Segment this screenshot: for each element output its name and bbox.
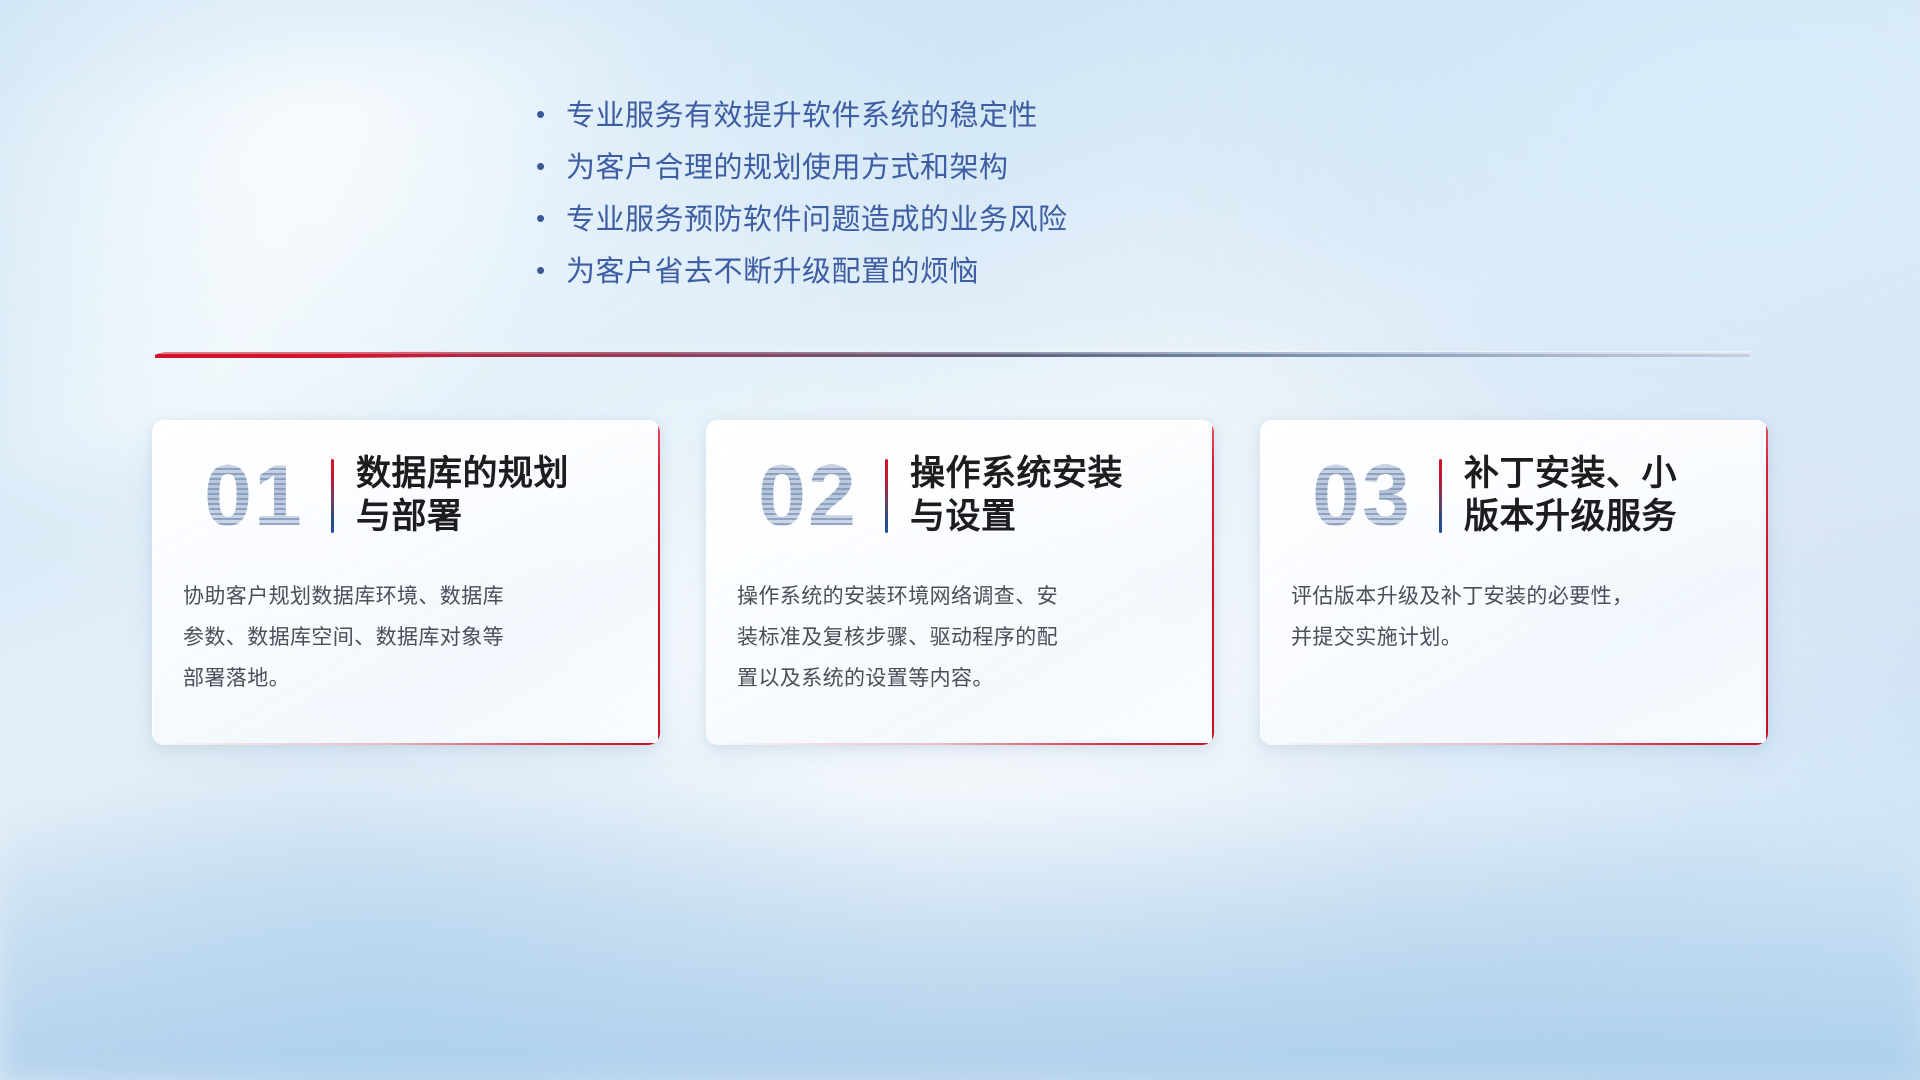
bullet-dot-icon: • (536, 153, 566, 179)
card-title: 补丁安装、小 版本升级服务 (1464, 453, 1742, 538)
card-description: 评估版本升级及补丁安装的必要性， 并提交实施计划。 (1261, 549, 1768, 659)
divider-highlight (155, 351, 1750, 354)
card-title: 数据库的规划 与部署 (356, 453, 634, 538)
bullet-text: 专业服务预防软件问题造成的业务风险 (566, 196, 1068, 238)
bullet-dot-icon: • (536, 257, 566, 283)
list-item: • 专业服务有效提升软件系统的稳定性 (536, 92, 1356, 144)
background-bottom-shade (0, 799, 1920, 1080)
bullet-dot-icon: • (536, 101, 566, 127)
card-accent-bar (885, 459, 888, 533)
card-title: 操作系统安装 与设置 (910, 453, 1188, 538)
list-item: • 专业服务预防软件问题造成的业务风险 (536, 196, 1356, 248)
card-accent-bar (331, 459, 334, 533)
list-item: • 为客户省去不断升级配置的烦恼 (536, 248, 1356, 300)
benefits-bullet-list: • 专业服务有效提升软件系统的稳定性 • 为客户合理的规划使用方式和架构 • 专… (536, 92, 1356, 300)
card-accent-bottom (707, 743, 1214, 745)
bullet-text: 为客户合理的规划使用方式和架构 (566, 144, 1009, 186)
card-accent-bottom (1261, 743, 1768, 745)
bullet-dot-icon: • (536, 205, 566, 231)
card-description: 操作系统的安装环境网络调查、安 装标准及复核步骤、驱动程序的配 置以及系统的设置… (707, 549, 1214, 700)
card-number: 01 (183, 448, 325, 544)
card-header: 02 操作系统安装 与设置 (707, 421, 1214, 549)
card-header: 01 数据库的规划 与部署 (153, 421, 660, 549)
bullet-text: 专业服务有效提升软件系统的稳定性 (566, 92, 1038, 134)
card-description: 协助客户规划数据库环境、数据库 参数、数据库空间、数据库对象等 部署落地。 (153, 549, 660, 700)
service-cards: 01 数据库的规划 与部署 协助客户规划数据库环境、数据库 参数、数据库空间、数… (152, 420, 1768, 745)
service-card-01[interactable]: 01 数据库的规划 与部署 协助客户规划数据库环境、数据库 参数、数据库空间、数… (152, 420, 660, 745)
card-number: 03 (1291, 448, 1433, 544)
card-accent-bar (1439, 459, 1442, 533)
section-divider (155, 348, 1750, 362)
card-number: 02 (737, 448, 879, 544)
list-item: • 为客户合理的规划使用方式和架构 (536, 144, 1356, 196)
service-card-02[interactable]: 02 操作系统安装 与设置 操作系统的安装环境网络调查、安 装标准及复核步骤、驱… (706, 420, 1214, 745)
card-accent-bottom (153, 743, 660, 745)
bullet-text: 为客户省去不断升级配置的烦恼 (566, 248, 979, 290)
service-card-03[interactable]: 03 补丁安装、小 版本升级服务 评估版本升级及补丁安装的必要性， 并提交实施计… (1260, 420, 1768, 745)
card-header: 03 补丁安装、小 版本升级服务 (1261, 421, 1768, 549)
